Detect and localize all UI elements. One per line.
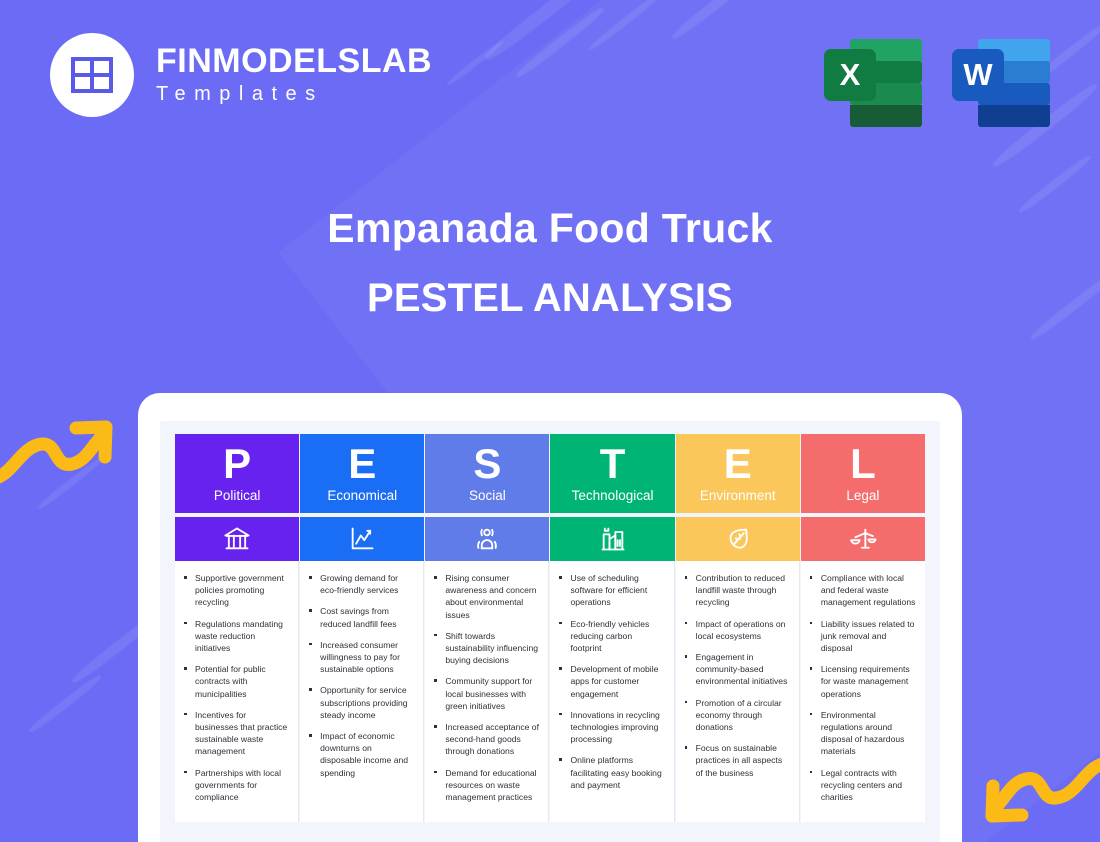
list-item: Growing demand for eco-friendly services bbox=[308, 572, 414, 596]
list-item: Engagement in community-based environmen… bbox=[684, 651, 790, 688]
pestel-letter: E bbox=[348, 444, 376, 484]
list-item: Regulations mandating waste reduction in… bbox=[183, 618, 289, 655]
list-item: Development of mobile apps for customer … bbox=[558, 663, 664, 700]
list-item: Community support for local businesses w… bbox=[433, 675, 539, 712]
list-item: Innovations in recycling technologies im… bbox=[558, 709, 664, 746]
pestel-label: Environment bbox=[700, 488, 776, 503]
list-item: Opportunity for service subscriptions pr… bbox=[308, 684, 414, 721]
pestel-cell-economical: Growing demand for eco-friendly services… bbox=[300, 561, 424, 822]
list-item: Demand for educational resources on wast… bbox=[433, 767, 539, 804]
pestel-header-environment[interactable]: E Environment bbox=[676, 434, 800, 513]
page-subtitle: PESTEL ANALYSIS bbox=[0, 276, 1100, 321]
pestel-header-economical[interactable]: E Economical bbox=[300, 434, 424, 513]
squiggly-arrow-up-right-icon bbox=[0, 406, 122, 497]
list-item: Increased acceptance of second-hand good… bbox=[433, 721, 539, 758]
pestel-label: Legal bbox=[846, 488, 879, 503]
list-item: Use of scheduling software for efficient… bbox=[558, 572, 664, 609]
brand-name: FINMODELSLAB bbox=[156, 44, 432, 80]
list-item: Supportive government policies promoting… bbox=[183, 572, 289, 609]
pestel-body-row: Supportive government policies promoting… bbox=[175, 561, 925, 822]
excel-icon: X bbox=[824, 25, 922, 123]
pestel-label: Social bbox=[469, 488, 506, 503]
brand-tagline: Templates bbox=[156, 83, 432, 106]
excel-letter: X bbox=[824, 49, 876, 101]
pestel-letter: L bbox=[850, 444, 876, 484]
pestel-cell-technological: Use of scheduling software for efficient… bbox=[550, 561, 674, 822]
scales-balance-icon bbox=[801, 517, 925, 561]
grid-window-icon bbox=[50, 33, 134, 117]
list-item: Liability issues related to junk removal… bbox=[809, 618, 916, 655]
pestel-label: Technological bbox=[572, 488, 654, 503]
word-icon: W bbox=[952, 25, 1050, 123]
pestel-header-legal[interactable]: L Legal bbox=[801, 434, 925, 513]
pestel-cell-environment: Contribution to reduced landfill waste t… bbox=[676, 561, 800, 822]
tablet-frame: P Political E Economical S Social T Tech… bbox=[138, 393, 962, 842]
list-item: Online platforms facilitating easy booki… bbox=[558, 754, 664, 791]
brand-logo: FINMODELSLAB Templates bbox=[50, 33, 432, 117]
pestel-letter: S bbox=[473, 444, 501, 484]
pestel-cell-social: Rising consumer awareness and concern ab… bbox=[425, 561, 549, 822]
squiggly-arrow-down-left-icon bbox=[976, 748, 1100, 842]
pestel-header-political[interactable]: P Political bbox=[175, 434, 299, 513]
pestel-cell-political: Supportive government policies promoting… bbox=[175, 561, 299, 822]
list-item: Shift towards sustainability influencing… bbox=[433, 630, 539, 667]
list-item: Rising consumer awareness and concern ab… bbox=[433, 572, 539, 621]
list-item: Increased consumer willingness to pay fo… bbox=[308, 639, 414, 676]
pestel-letter: E bbox=[724, 444, 752, 484]
list-item: Impact of operations on local ecosystems bbox=[684, 618, 790, 642]
page-title: Empanada Food Truck bbox=[0, 205, 1100, 252]
factory-icon bbox=[550, 517, 674, 561]
line-chart-icon bbox=[300, 517, 424, 561]
list-item: Potential for public contracts with muni… bbox=[183, 663, 289, 700]
word-letter: W bbox=[952, 49, 1004, 101]
tablet-screen: P Political E Economical S Social T Tech… bbox=[160, 421, 940, 842]
list-item: Focus on sustainable practices in all as… bbox=[684, 742, 790, 779]
people-group-icon bbox=[425, 517, 549, 561]
list-item: Eco-friendly vehicles reducing carbon fo… bbox=[558, 618, 664, 655]
list-item: Compliance with local and federal waste … bbox=[809, 572, 916, 609]
pestel-label: Economical bbox=[327, 488, 397, 503]
file-format-icons: X W bbox=[824, 25, 1050, 123]
list-item: Legal contracts with recycling centers a… bbox=[809, 767, 916, 804]
list-item: Promotion of a circular economy through … bbox=[684, 697, 790, 734]
pestel-letter: P bbox=[223, 444, 251, 484]
page-title-block: Empanada Food Truck PESTEL ANALYSIS bbox=[0, 205, 1100, 321]
leaf-icon bbox=[676, 517, 800, 561]
pestel-label: Political bbox=[214, 488, 261, 503]
list-item: Impact of economic downturns on disposab… bbox=[308, 730, 414, 779]
list-item: Partnerships with local governments for … bbox=[183, 767, 289, 804]
pestel-letter: T bbox=[600, 444, 626, 484]
pestel-icon-row bbox=[175, 513, 925, 561]
bank-building-icon bbox=[175, 517, 299, 561]
pestel-header-social[interactable]: S Social bbox=[425, 434, 549, 513]
list-item: Licensing requirements for waste managem… bbox=[809, 663, 916, 700]
list-item: Cost savings from reduced landfill fees bbox=[308, 605, 414, 629]
list-item: Incentives for businesses that practice … bbox=[183, 709, 289, 758]
pestel-cell-legal: Compliance with local and federal waste … bbox=[801, 561, 925, 822]
list-item: Contribution to reduced landfill waste t… bbox=[684, 572, 790, 609]
list-item: Environmental regulations around disposa… bbox=[809, 709, 916, 758]
pestel-header-technological[interactable]: T Technological bbox=[550, 434, 674, 513]
pestel-header-row: P Political E Economical S Social T Tech… bbox=[175, 434, 925, 513]
